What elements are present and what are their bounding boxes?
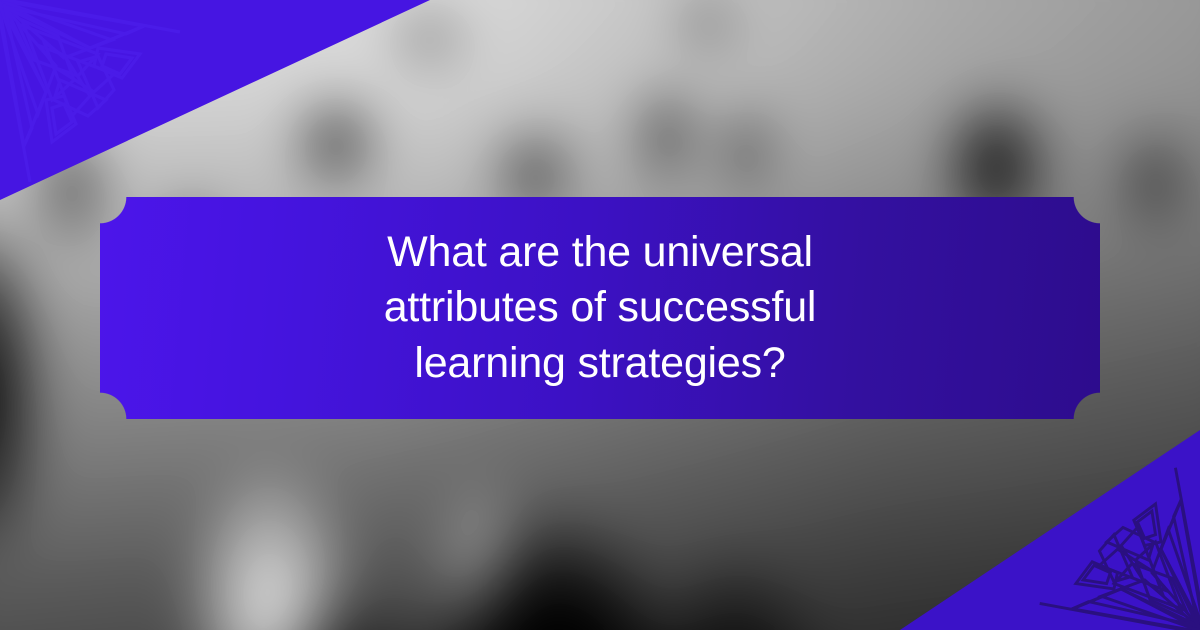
page-title: What are the universal attributes of suc… — [250, 225, 950, 390]
social-card: What are the universal attributes of suc… — [0, 0, 1200, 630]
headline-banner: What are the universal attributes of suc… — [100, 197, 1100, 419]
